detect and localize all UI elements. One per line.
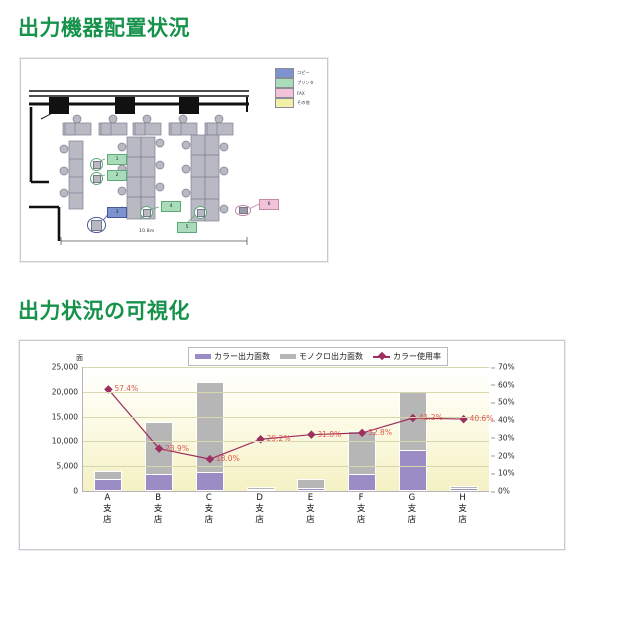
x-axis-tick: D支店 [245,493,275,526]
floorplan-marker-5[interactable]: 5 [177,222,197,233]
fax-device-icon-6 [235,205,251,216]
legend-label-copier: コピー [297,70,310,76]
color-rate-point[interactable] [307,430,315,438]
y-axis-tick: 15,000 [52,412,78,421]
legend-swatch-copier [275,68,294,78]
chart-plot-area: 05,00010,00015,00020,00025,0000%10%20%30… [82,367,489,492]
legend-swatch-fax [275,88,294,98]
color-rate-data-label: 57.4% [114,384,138,393]
page-root: 出力機器配置状況 [0,0,622,622]
chart-legend-item-color-rate: カラー使用率 [373,351,441,362]
legend-swatch-color-pages [195,354,211,359]
x-axis-tick: C支店 [194,493,224,526]
y2-axis-tick: 20% [498,451,515,460]
copier-device-icon-3 [87,217,106,233]
chart-x-axis: A支店B支店C支店D支店E支店F支店G支店H支店 [82,493,488,543]
y2-axis-tick: 30% [498,433,515,442]
y-axis-unit-label: 面 [76,353,83,363]
color-rate-data-label: 29.2% [267,434,291,443]
chart-legend-item-color-pages: カラー出力面数 [195,351,270,362]
legend-swatch-printer [275,78,294,88]
color-rate-data-label: 41.2% [419,413,443,422]
floorplan-marker-2[interactable]: 2 [107,170,127,181]
chart-gridline [83,392,489,393]
floorplan-legend-item-fax: FAX [275,89,323,97]
floorplan-section-title: 出力機器配置状況 [18,12,190,42]
x-axis-tick: B支店 [143,493,173,526]
y-axis-tick: 20,000 [52,387,78,396]
y-axis-tick: 5,000 [57,462,78,471]
color-rate-data-label: 18.0% [216,454,240,463]
color-rate-data-label: 23.9% [165,444,189,453]
chart-section-title: 出力状況の可視化 [18,295,190,325]
floorplan-legend-item-printer: プリンタ [275,79,323,87]
x-axis-tick: A支店 [92,493,122,526]
printer-device-icon-2 [90,172,103,185]
y2-axis-tick: 50% [498,398,515,407]
y-axis-tick: 25,000 [52,363,78,372]
chart-legend-item-mono-pages: モノクロ出力面数 [280,351,363,362]
floorplan-legend-item-other: その他 [275,99,323,107]
chart-line-layer [83,367,489,491]
y2-axis-tick: 10% [498,469,515,478]
floorplan-drawing: 1 2 3 4 5 6 10.8m コピー プリンタ FAX [21,59,327,261]
output-usage-chart: カラー出力面数 モノクロ出力面数 カラー使用率 面 05,00010,00015… [20,341,564,549]
x-axis-tick: G支店 [397,493,427,526]
legend-label-color-rate: カラー使用率 [393,351,441,362]
floorplan-scale-label: 10.8m [139,229,154,234]
chart-legend: カラー出力面数 モノクロ出力面数 カラー使用率 [188,347,448,366]
floorplan-legend: コピー プリンタ FAX その他 [275,69,323,109]
x-axis-tick: F支店 [346,493,376,526]
legend-swatch-mono-pages [280,354,296,359]
color-rate-data-label: 31.8% [317,430,341,439]
color-rate-point[interactable] [409,414,417,422]
floorplan-marker-1[interactable]: 1 [107,154,127,165]
floorplan-marker-4[interactable]: 4 [161,201,181,212]
printer-device-icon-4 [140,206,153,219]
y-axis-tick: 10,000 [52,437,78,446]
floorplan-marker-6[interactable]: 6 [259,199,279,210]
legend-label-mono-pages: モノクロ出力面数 [299,351,363,362]
floorplan-legend-item-copier: コピー [275,69,323,77]
y2-axis-tick: 0% [498,487,510,496]
color-rate-point[interactable] [358,429,366,437]
legend-label-color-pages: カラー出力面数 [214,351,270,362]
legend-label-fax: FAX [297,90,305,95]
color-rate-point[interactable] [206,455,214,463]
legend-swatch-other [275,98,294,108]
printer-device-icon-1 [90,158,103,171]
x-axis-tick: E支店 [295,493,325,526]
chart-gridline [83,367,489,368]
y2-axis-tick: 40% [498,416,515,425]
chart-gridline [83,466,489,467]
x-axis-tick: H支店 [448,493,478,526]
legend-label-printer: プリンタ [297,80,314,86]
chart-panel: カラー出力面数 モノクロ出力面数 カラー使用率 面 05,00010,00015… [19,340,565,550]
legend-label-other: その他 [297,100,310,106]
legend-swatch-color-rate [373,356,390,358]
floorplan-marker-3[interactable]: 3 [107,207,127,218]
color-rate-data-label: 32.8% [368,428,392,437]
y-axis-tick: 0 [73,487,78,496]
y2-axis-tick: 60% [498,380,515,389]
color-rate-data-label: 40.6% [470,414,494,423]
printer-device-icon-5 [194,206,207,219]
y2-axis-tick: 70% [498,363,515,372]
floorplan-panel: 1 2 3 4 5 6 10.8m コピー プリンタ FAX [20,58,328,262]
